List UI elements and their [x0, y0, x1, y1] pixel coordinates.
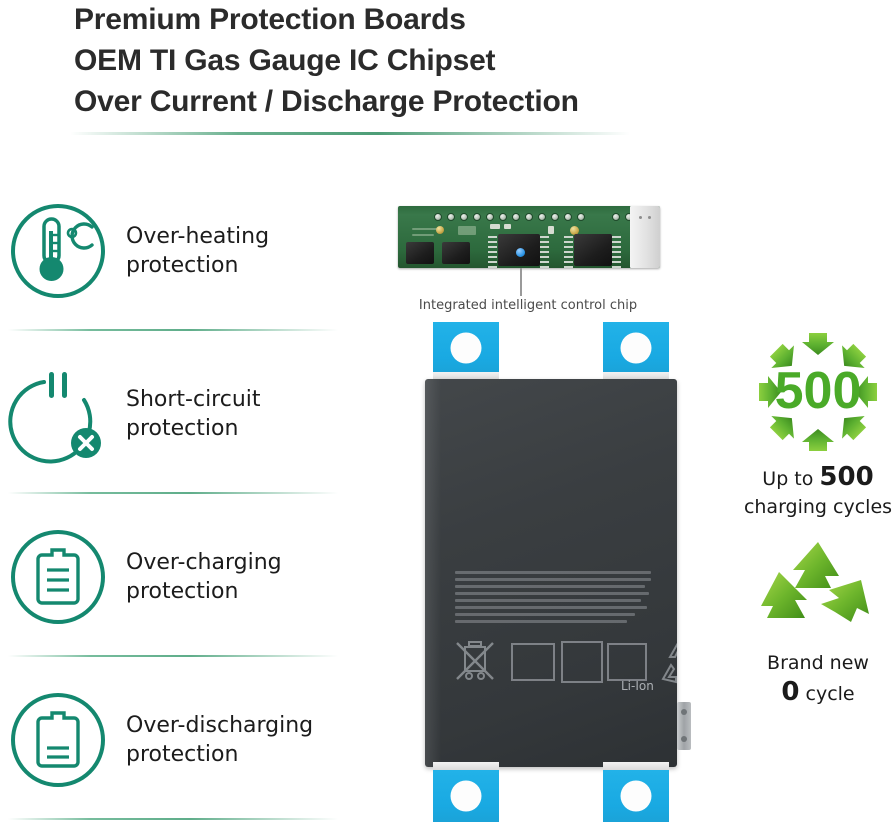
crossed-out-wheelie-bin-icon: [455, 639, 495, 683]
feature-item-over-discharging: Over-discharging protection: [0, 675, 370, 838]
feature-divider: [8, 818, 338, 820]
feature-list: Over-heating protection Short-circuit p: [0, 186, 370, 838]
pcb-pad: [460, 213, 468, 221]
feature-label-short-circuit: Short-circuit protection: [126, 385, 261, 443]
feature-label-line-2: protection: [126, 577, 282, 606]
charging-cycles-badge: 500 Up to 500 charging cycles: [742, 328, 894, 519]
pcb-smd-component: [504, 224, 511, 229]
protection-board-figure: Integrated intelligent control chip: [398, 206, 674, 268]
battery-label-fineprint: [455, 571, 651, 623]
adhesive-tab-top-left: [433, 322, 499, 374]
pcb-ic-chip: [442, 242, 470, 264]
pcb-smd-component: [548, 226, 554, 234]
feature-divider: [8, 655, 338, 657]
battery-connector-tab: [677, 702, 691, 750]
cycles-caption-line-2: charging cycles: [742, 495, 894, 520]
feature-label-line-2: protection: [126, 414, 261, 443]
adhesive-tab-top-right: [603, 322, 669, 374]
feature-label-line-2: protection: [126, 740, 313, 769]
feature-label-line-2: protection: [126, 251, 269, 280]
feature-item-short-circuit: Short-circuit protection: [0, 349, 370, 512]
cycles-caption-number: 500: [819, 462, 873, 492]
feature-label-line-1: Short-circuit: [126, 385, 261, 414]
short-circuit-icon: [6, 362, 110, 466]
recycle-caption-line-1: Brand new: [742, 651, 894, 676]
pcb-ic-chip: [574, 234, 612, 266]
pcb-pin-row: [564, 236, 573, 268]
cycles-caption-prefix: Up to: [762, 468, 819, 490]
pcb-pad: [473, 213, 481, 221]
recycle-caption: Brand new 0 cycle: [742, 651, 894, 709]
recycle-triangle-icon: [743, 528, 893, 646]
pcb-pad: [434, 213, 442, 221]
recycle-caption-suffix: cycle: [799, 683, 854, 705]
pcb-silkscreen: [458, 226, 476, 235]
brand-new-badge: Brand new 0 cycle: [742, 528, 894, 709]
battery-low-icon: [6, 688, 110, 792]
pcb-pad: [564, 213, 572, 221]
adhesive-tab-bottom-left: [433, 770, 499, 822]
li-ion-label: Li-Ion: [621, 679, 654, 693]
pcb-pin-row: [540, 236, 549, 268]
feature-item-over-heating: Over-heating protection: [0, 186, 370, 349]
pcb-ic-chip: [406, 242, 434, 264]
feature-label-line-1: Over-discharging: [126, 711, 313, 740]
pcb-caption: Integrated intelligent control chip: [318, 298, 738, 313]
thermometer-celsius-icon: [6, 199, 110, 303]
feature-divider: [8, 492, 338, 494]
pcb-pad: [525, 213, 533, 221]
callout-leader-line: [520, 268, 522, 296]
pcb-board: [398, 206, 660, 268]
pcb-pad: [512, 213, 520, 221]
recycle-symbol-icon: [655, 637, 677, 689]
certification-mark: [607, 643, 647, 681]
cycle-arrows-ring-icon: 500: [743, 328, 893, 456]
pcb-pad: [538, 213, 546, 221]
pcb-smd-component: [490, 224, 500, 229]
feature-label-line-1: Over-heating: [126, 222, 269, 251]
feature-item-over-charging: Over-charging protection: [0, 512, 370, 675]
header-block: Premium Protection Boards OEM TI Gas Gau…: [74, 0, 774, 122]
feature-label-over-charging: Over-charging protection: [126, 548, 282, 606]
page-title-line-2: OEM TI Gas Gauge IC Chipset: [74, 41, 774, 82]
pcb-pad: [499, 213, 507, 221]
battery-figure: Li-Ion: [425, 322, 703, 830]
feature-label-over-discharging: Over-discharging protection: [126, 711, 313, 769]
cycles-caption: Up to 500 charging cycles: [742, 461, 894, 519]
page-title-line-1: Premium Protection Boards: [74, 0, 774, 41]
pcb-pad-row: [434, 213, 585, 221]
adhesive-tab-bottom-right: [603, 770, 669, 822]
pcb-pad: [447, 213, 455, 221]
control-chip-marker-dot: [516, 248, 525, 257]
pcb-pin-row: [488, 236, 497, 268]
pcb-pin-row: [612, 236, 621, 268]
page-title-line-3: Over Current / Discharge Protection: [74, 82, 774, 123]
pcb-pad: [486, 213, 494, 221]
certification-mark: [561, 641, 603, 683]
feature-divider: [8, 329, 338, 331]
feature-label-line-1: Over-charging: [126, 548, 282, 577]
pcb-pad: [551, 213, 559, 221]
recycle-caption-zero: 0: [781, 677, 799, 707]
pcb-pad: [612, 213, 620, 221]
pcb-connector: [630, 206, 660, 268]
battery-edge-highlight: [425, 379, 441, 767]
pcb-pad: [577, 213, 585, 221]
battery-full-icon: [6, 525, 110, 629]
feature-label-over-heating: Over-heating protection: [126, 222, 269, 280]
battery-cell-body: Li-Ion: [425, 379, 677, 767]
pcb-via: [436, 226, 444, 234]
header-divider: [70, 132, 630, 135]
certification-mark: [511, 643, 555, 681]
cycle-count-number: 500: [775, 362, 862, 420]
pcb-trace: [412, 234, 434, 236]
